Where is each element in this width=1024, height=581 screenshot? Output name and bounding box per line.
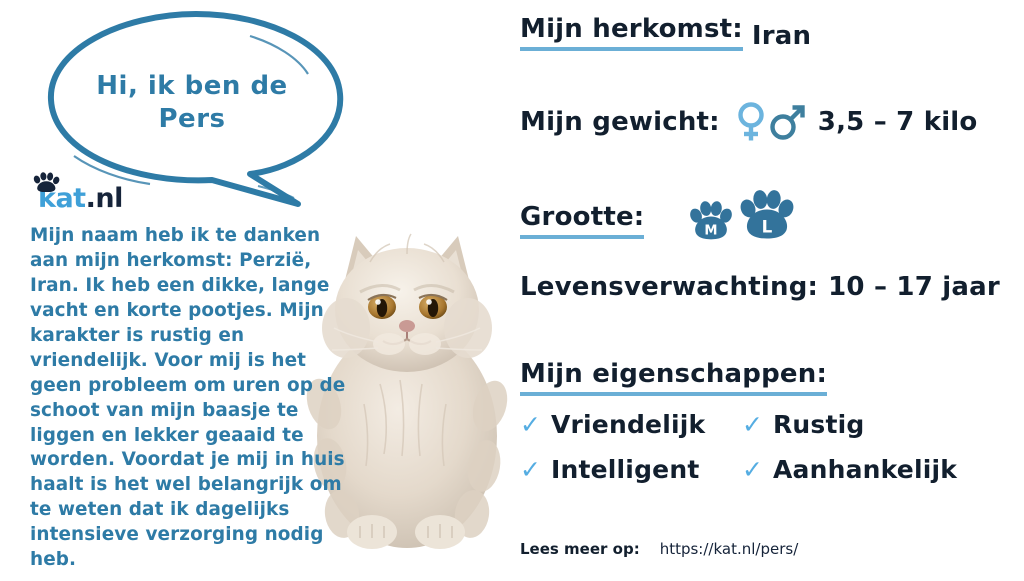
size-label: Grootte: <box>520 202 644 239</box>
origin-label: Mijn herkomst: <box>520 14 743 51</box>
breed-description-text: Mijn naam heb ik te danken aan mijn herk… <box>30 224 352 573</box>
trait-label: Vriendelijk <box>551 410 705 439</box>
check-icon: ✓ <box>742 412 763 437</box>
gender-icons-group <box>734 100 806 144</box>
trait-item: ✓ Intelligent <box>520 455 742 484</box>
trait-item: ✓ Aanhankelijk <box>742 455 957 484</box>
infographic-canvas: Hi, ik ben de Pers kat.nl Mijn naam heb … <box>0 0 1024 581</box>
traits-list: ✓ Vriendelijk ✓ Rustig ✓ Intelligent ✓ A… <box>520 410 990 500</box>
fact-row-origin: Mijn herkomst: Iran <box>520 14 811 51</box>
trait-item: ✓ Rustig <box>742 410 865 439</box>
male-symbol-icon <box>768 100 806 144</box>
lifespan-label: Levensverwachting: <box>520 272 818 302</box>
check-icon: ✓ <box>520 412 541 437</box>
female-symbol-icon <box>734 100 768 144</box>
traits-row: ✓ Intelligent ✓ Aanhankelijk <box>520 455 990 484</box>
size-badge-letter-m: M <box>705 224 718 239</box>
footer-url-link[interactable]: https://kat.nl/pers/ <box>660 540 799 558</box>
footer: Lees meer op: https://kat.nl/pers/ <box>520 540 798 558</box>
paw-badge-m-icon: M <box>688 198 734 242</box>
trait-label: Rustig <box>773 410 865 439</box>
speech-bubble-text: Hi, ik ben de Pers <box>64 70 320 135</box>
lifespan-value: 10 – 17 jaar <box>828 272 1000 302</box>
paw-badge-l-icon: L <box>738 186 796 242</box>
check-icon: ✓ <box>742 457 763 482</box>
size-badge-letter-l: L <box>762 216 773 236</box>
logo-word-nl: .nl <box>86 183 123 214</box>
size-badges-group: M L <box>688 186 796 242</box>
fact-row-weight: Mijn gewicht: 3,5 – 7 kilo <box>520 100 977 144</box>
trait-label: Intelligent <box>551 455 700 484</box>
trait-item: ✓ Vriendelijk <box>520 410 742 439</box>
kat-nl-logo[interactable]: kat.nl <box>30 176 123 212</box>
footer-label: Lees meer op: <box>520 540 640 558</box>
check-icon: ✓ <box>520 457 541 482</box>
paw-print-icon <box>32 172 60 192</box>
fact-row-lifespan: Levensverwachting: 10 – 17 jaar <box>520 272 1000 302</box>
facts-panel: Mijn herkomst: Iran Mijn gewicht: 3,5 – … <box>518 0 1018 581</box>
properties-label: Mijn eigenschappen: <box>520 359 827 396</box>
weight-value: 3,5 – 7 kilo <box>818 107 978 137</box>
trait-label: Aanhankelijk <box>773 455 957 484</box>
weight-label: Mijn gewicht: <box>520 107 720 137</box>
fact-row-size: Grootte: M L <box>520 183 796 239</box>
fact-row-properties: Mijn eigenschappen: <box>520 359 827 396</box>
traits-row: ✓ Vriendelijk ✓ Rustig <box>520 410 990 439</box>
origin-value: Iran <box>752 21 811 51</box>
